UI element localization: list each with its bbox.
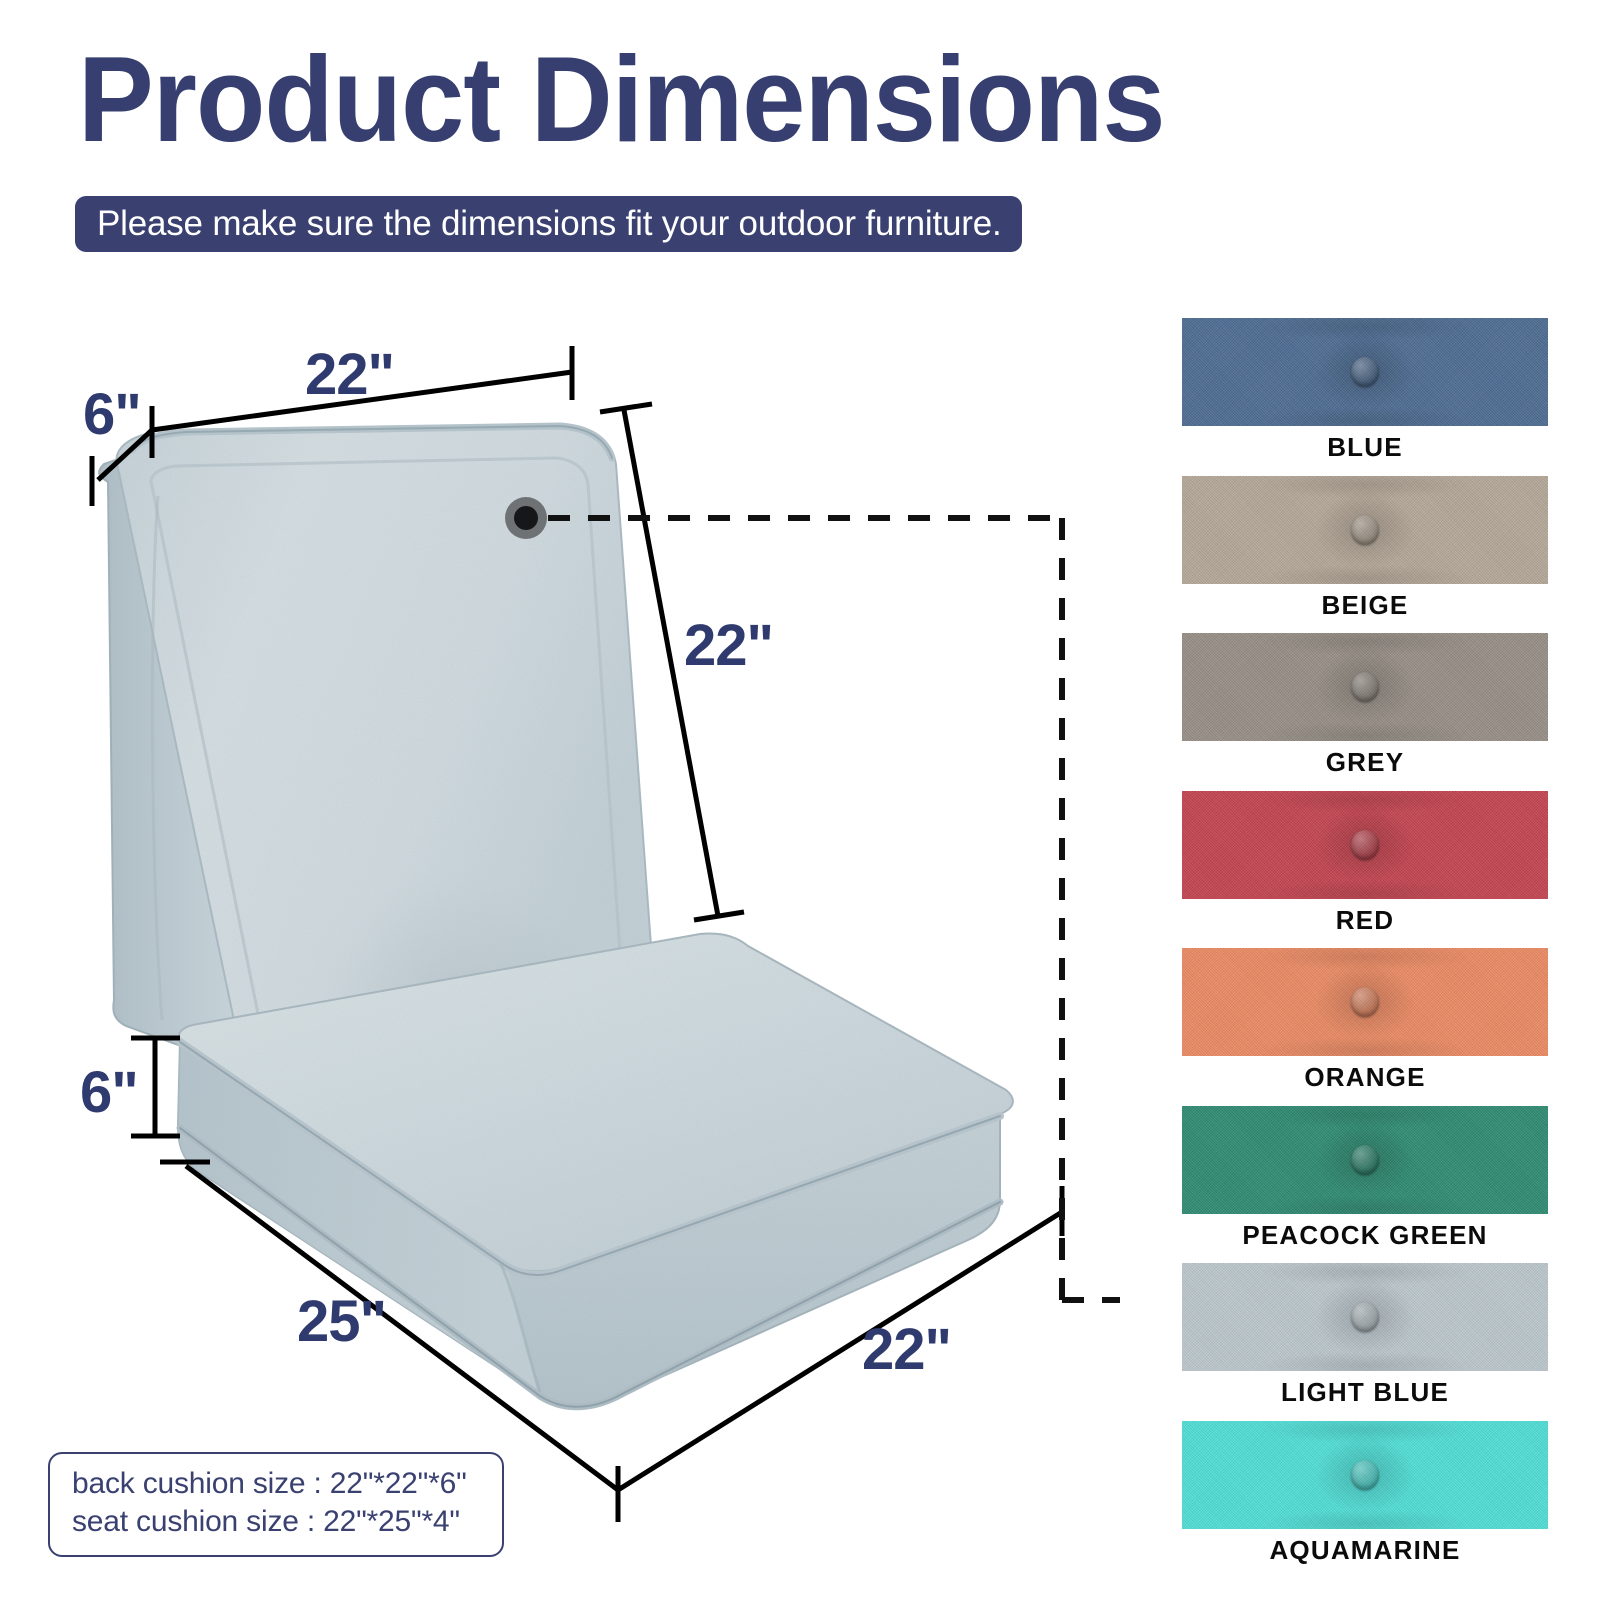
tuft-button-icon [1351, 357, 1379, 387]
swatch-label: BEIGE [1182, 584, 1548, 625]
swatch-color-chip[interactable] [1182, 1421, 1548, 1529]
back-cushion-size-text: back cushion size : 22"*22"*6" [72, 1465, 486, 1503]
dimension-label-back-width: 22" [305, 341, 394, 408]
seat-cushion-size-text: seat cushion size : 22"*25"*4" [72, 1503, 486, 1541]
size-caption-box: back cushion size : 22"*22"*6" seat cush… [48, 1452, 504, 1557]
swatch-label: PEACOCK GREEN [1182, 1214, 1548, 1255]
tuft-button-icon [1351, 987, 1379, 1017]
swatch-item[interactable]: LIGHT BLUE [1182, 1263, 1548, 1412]
swatch-label: GREY [1182, 741, 1548, 782]
swatch-color-chip[interactable] [1182, 791, 1548, 899]
tuft-button-icon [1351, 672, 1379, 702]
subtitle-badge: Please make sure the dimensions fit your… [75, 196, 1022, 252]
dimension-label-back-height: 22" [684, 612, 773, 679]
swatch-color-chip[interactable] [1182, 1263, 1548, 1371]
color-swatch-panel: BLUEBEIGEGREYREDORANGEPEACOCK GREENLIGHT… [1182, 318, 1548, 1578]
infographic-canvas: Product Dimensions Please make sure the … [0, 0, 1600, 1600]
dimension-label-seat-width: 22" [862, 1316, 951, 1383]
tuft-button-icon [1351, 830, 1379, 860]
grommet-icon [505, 497, 547, 539]
page-title: Product Dimensions [78, 38, 1165, 160]
tuft-button-icon [1351, 1145, 1379, 1175]
dimension-label-seat-depth: 25" [297, 1288, 386, 1355]
swatch-item[interactable]: AQUAMARINE [1182, 1421, 1548, 1570]
swatch-item[interactable]: BLUE [1182, 318, 1548, 467]
swatch-item[interactable]: BEIGE [1182, 476, 1548, 625]
swatch-color-chip[interactable] [1182, 1106, 1548, 1214]
swatch-color-chip[interactable] [1182, 948, 1548, 1056]
swatch-label: LIGHT BLUE [1182, 1371, 1548, 1412]
swatch-color-chip[interactable] [1182, 318, 1548, 426]
tuft-button-icon [1351, 515, 1379, 545]
dimension-label-back-thickness: 6" [83, 381, 141, 448]
swatch-label: AQUAMARINE [1182, 1529, 1548, 1570]
swatch-color-chip[interactable] [1182, 476, 1548, 584]
tuft-button-icon [1351, 1302, 1379, 1332]
swatch-label: ORANGE [1182, 1056, 1548, 1097]
swatch-color-chip[interactable] [1182, 633, 1548, 741]
swatch-item[interactable]: ORANGE [1182, 948, 1548, 1097]
cushion-diagram [0, 300, 1120, 1600]
swatch-item[interactable]: RED [1182, 791, 1548, 940]
swatch-label: BLUE [1182, 426, 1548, 467]
swatch-item[interactable]: GREY [1182, 633, 1548, 782]
swatch-item[interactable]: PEACOCK GREEN [1182, 1106, 1548, 1255]
tuft-button-icon [1351, 1460, 1379, 1490]
subtitle-text: Please make sure the dimensions fit your… [97, 204, 1002, 244]
dimension-label-seat-thickness: 6" [80, 1059, 138, 1126]
swatch-label: RED [1182, 899, 1548, 940]
